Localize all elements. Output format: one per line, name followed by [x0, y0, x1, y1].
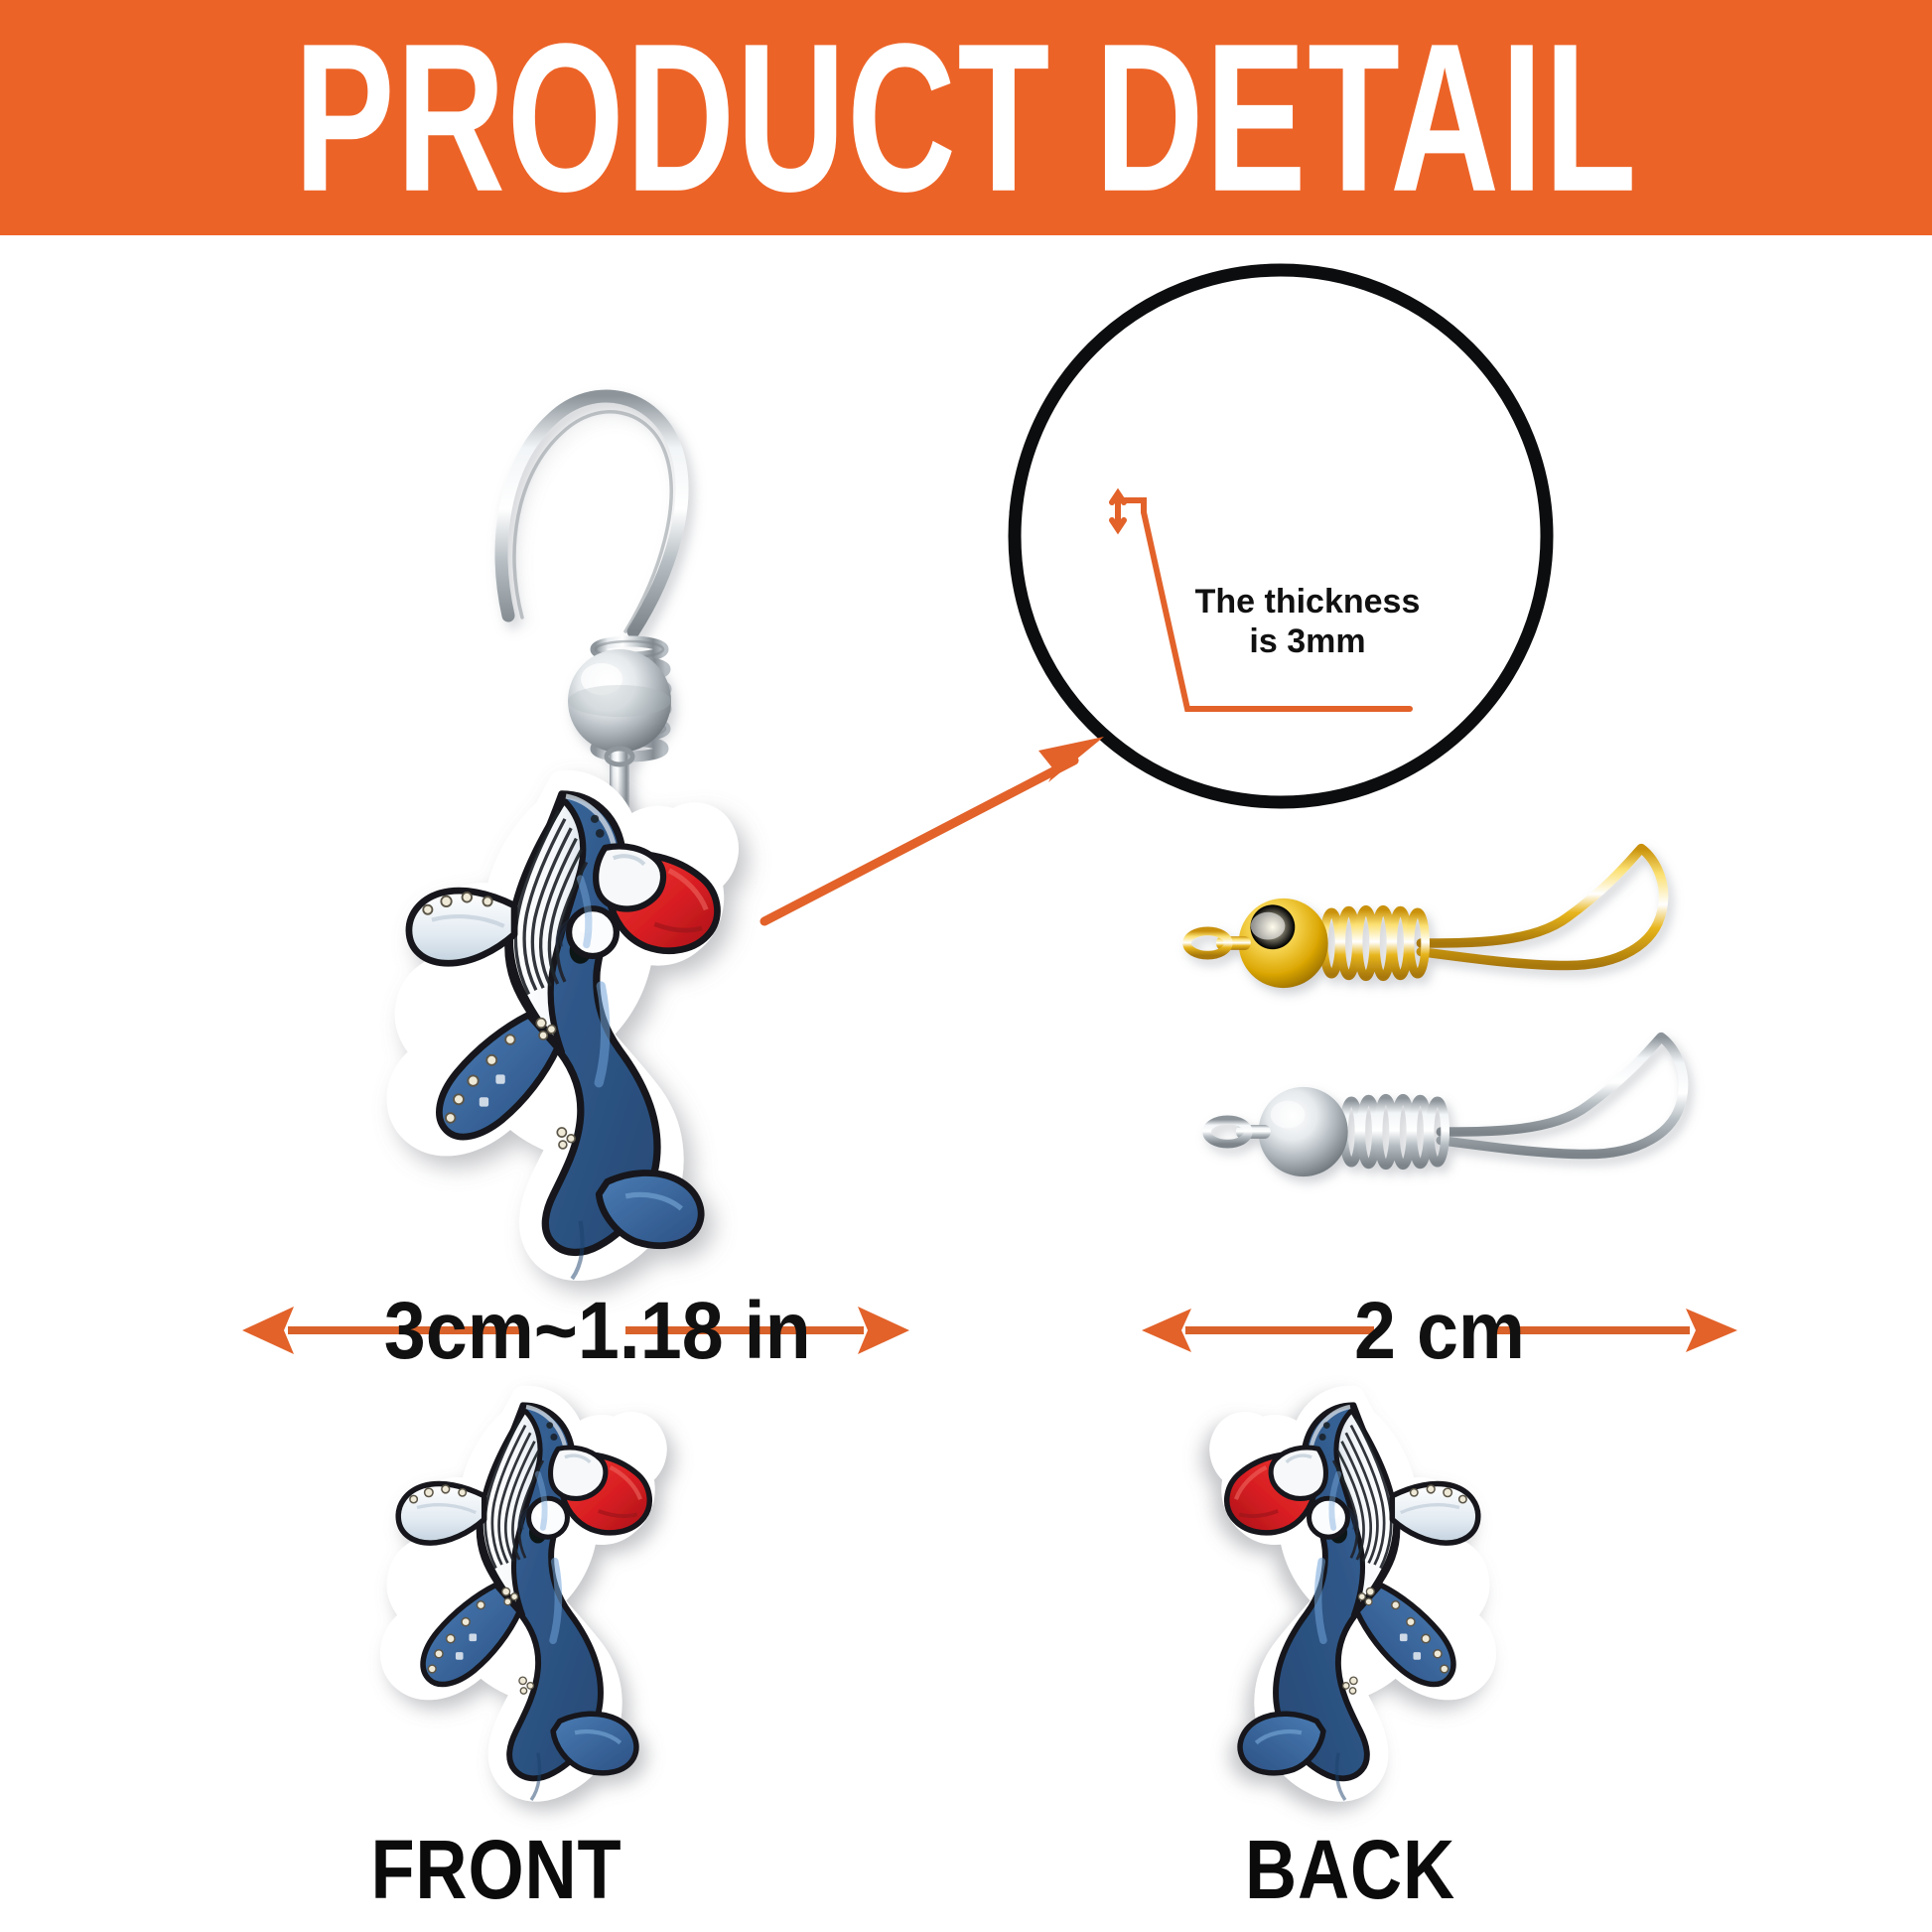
thickness-callout-text: The thickness is 3mm — [1183, 582, 1432, 661]
front-view-label: FRONT — [326, 1822, 667, 1918]
thickness-line-1: The thickness — [1195, 583, 1421, 621]
page-header-banner: PRODUCT DETAIL — [0, 0, 1932, 235]
hook-dimension-label: 2 cm — [1303, 1285, 1577, 1378]
front-view-charm — [347, 1385, 705, 1822]
thickness-line-2: is 3mm — [1249, 622, 1365, 660]
product-detail-page: PRODUCT DETAIL — [0, 0, 1932, 1932]
main-whale-charm — [352, 769, 779, 1306]
back-view-charm — [1172, 1385, 1529, 1822]
back-view-label: BACK — [1179, 1822, 1521, 1918]
pointer-arrow-icon — [755, 685, 1152, 953]
silver-earring-hook — [1132, 1003, 1767, 1261]
page-title: PRODUCT DETAIL — [294, 12, 1638, 223]
charm-dimension-label: 3cm~1.18 in — [384, 1285, 767, 1378]
